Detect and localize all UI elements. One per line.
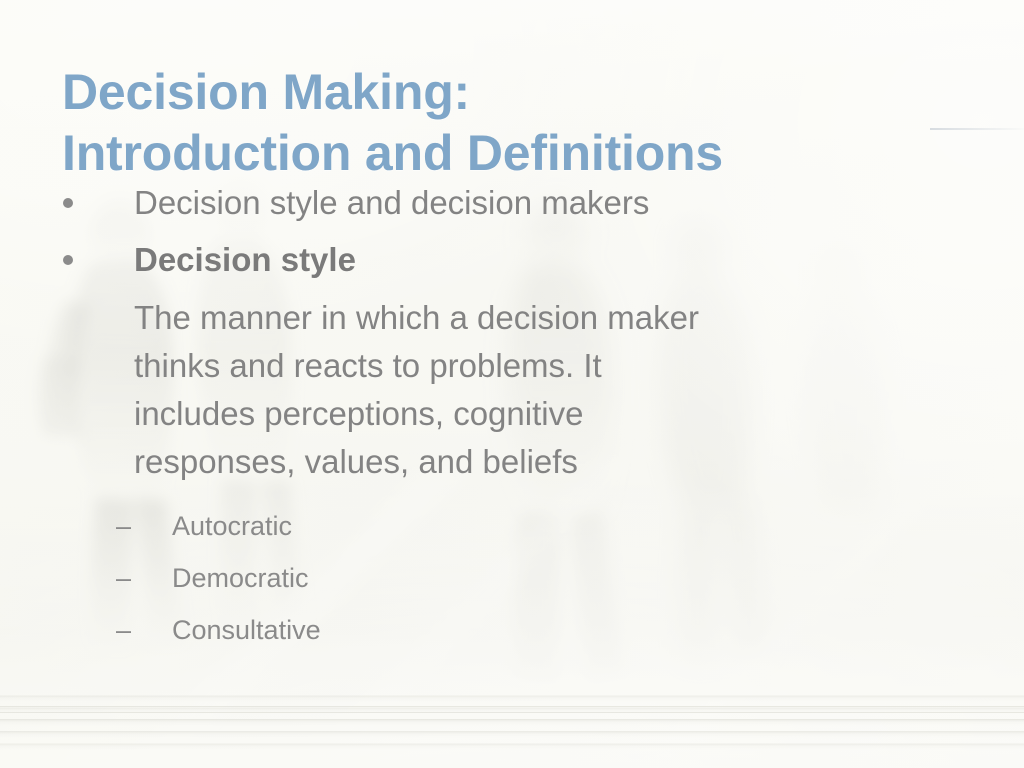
presentation-slide: Decision Making: Introduction and Defini… xyxy=(0,0,1024,768)
bullet-item-decision-style: Decision style xyxy=(0,231,1024,288)
sub-bullet-item-consultative: – Consultative xyxy=(0,604,1024,656)
bullet-dot-icon xyxy=(63,255,73,265)
paragraph-line-1: The manner in which a decision maker xyxy=(134,294,924,342)
bullet-item-decision-style-and-decision-makers: Decision style and decision makers xyxy=(0,174,1024,231)
sub-bullet-label: Democratic xyxy=(172,563,309,593)
sub-bullet-item-democratic: – Democratic xyxy=(0,552,1024,604)
paragraph-line-2: thinks and reacts to problems. It xyxy=(134,342,924,390)
sub-bullet-item-autocratic: – Autocratic xyxy=(0,500,1024,552)
paragraph-line-4: responses, values, and beliefs xyxy=(134,438,924,486)
paragraph-line-3: includes perceptions, cognitive xyxy=(134,390,924,438)
slide-body: Decision style and decision makers Decis… xyxy=(0,174,1024,656)
slide-content: Decision Making: Introduction and Defini… xyxy=(0,0,1024,768)
bullet-dot-icon xyxy=(63,198,73,208)
dash-marker-icon: – xyxy=(116,604,131,656)
sub-bullet-list: – Autocratic – Democratic – Consultative xyxy=(0,500,1024,656)
sub-bullet-label: Autocratic xyxy=(172,511,292,541)
slide-title: Decision Making: Introduction and Defini… xyxy=(62,62,992,184)
sub-bullet-label: Consultative xyxy=(172,615,321,645)
definition-paragraph: The manner in which a decision maker thi… xyxy=(0,294,1024,486)
bullet-label: Decision style and decision makers xyxy=(134,184,649,221)
bullet-label: Decision style xyxy=(134,241,356,278)
dash-marker-icon: – xyxy=(116,552,131,604)
slide-title-line-1: Decision Making: xyxy=(62,62,992,123)
dash-marker-icon: – xyxy=(116,500,131,552)
